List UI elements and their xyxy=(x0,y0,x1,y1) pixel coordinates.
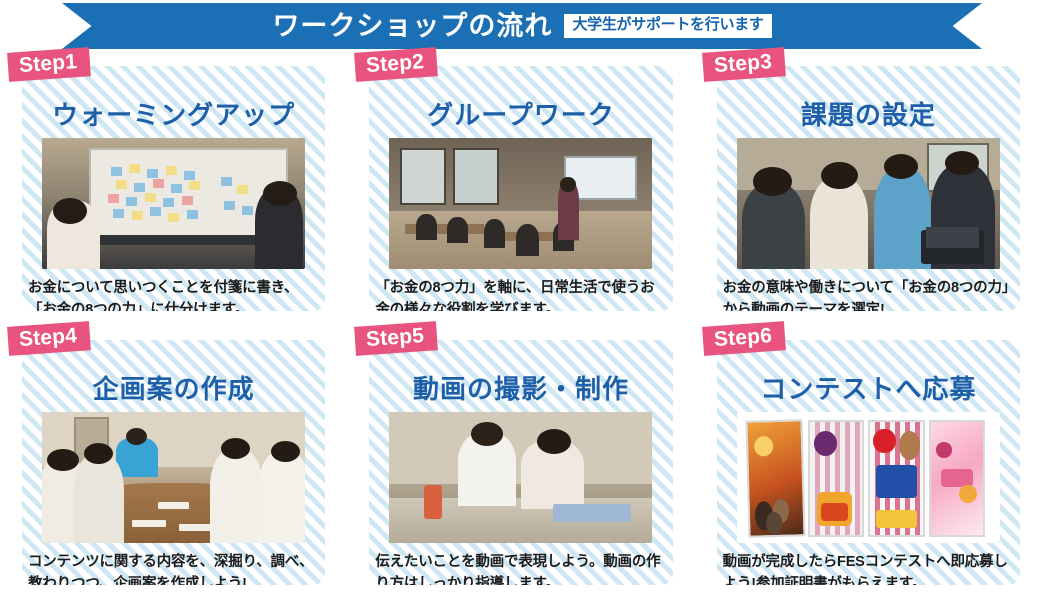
scene-video-production xyxy=(389,412,652,543)
step-cell-6: Step6 コンテストへ応募 xyxy=(695,326,1042,600)
scene-students-laptop xyxy=(737,138,1000,269)
step-photo-6 xyxy=(737,412,1000,543)
step-title-2: グループワーク xyxy=(369,92,672,134)
step-title-6: コンテストへ応募 xyxy=(717,366,1020,408)
step-cell-5: Step5 動画の撮影・制作 伝えたいことを動画で表現しよう。動画の作り方はしっ… xyxy=(347,326,694,600)
step-caption-6: 動画が完成したらFESコンテストへ即応募しよう!参加証明書がもらえます。 xyxy=(723,552,1014,585)
step-photo-5 xyxy=(389,412,652,543)
poster-3 xyxy=(868,420,925,537)
step-tag-5: Step5 xyxy=(354,321,438,356)
step-photo-1 xyxy=(42,138,305,269)
step-cell-2: Step2 グループワーク xyxy=(347,52,694,326)
poster-4 xyxy=(929,420,986,537)
scene-whiteboard-stickynotes xyxy=(42,138,305,269)
step-card-4: 企画案の作成 xyxy=(22,340,325,585)
scene-group-table xyxy=(42,412,305,543)
step-caption-4: コンテンツに関する内容を、深掘り、調べ、教わりつつ、企画案を作成しよう! xyxy=(28,552,319,585)
scene-classroom-presentation xyxy=(389,138,652,269)
page-title: ワークショップの流れ xyxy=(272,13,552,40)
step-card-5: 動画の撮影・制作 伝えたいことを動画で表現しよう。動画の作り方はしっかり指導しま… xyxy=(369,340,672,585)
step-photo-2 xyxy=(389,138,652,269)
step-card-3: 課題の設定 お金の意味や働きについて「 xyxy=(717,66,1020,311)
step-tag-4: Step4 xyxy=(7,321,91,356)
step-tag-3: Step3 xyxy=(702,47,786,82)
step-photo-4 xyxy=(42,412,305,543)
steps-grid: Step1 ウォーミングアップ xyxy=(0,52,1042,600)
step-title-3: 課題の設定 xyxy=(717,92,1020,134)
step-card-1: ウォーミングアップ xyxy=(22,66,325,311)
step-caption-5: 伝えたいことを動画で表現しよう。動画の作り方はしっかり指導します。 xyxy=(375,552,666,585)
poster-2 xyxy=(808,420,865,537)
poster-1 xyxy=(746,419,806,537)
step-caption-1: お金について思いつくことを付箋に書き、「お金の8つの力」に仕分けます。 xyxy=(28,278,319,311)
step-card-6: コンテストへ応募 xyxy=(717,340,1020,585)
step-tag-1: Step1 xyxy=(7,47,91,82)
step-cell-4: Step4 企画案の作成 xyxy=(0,326,347,600)
scene-contest-posters xyxy=(737,412,1000,543)
step-cell-1: Step1 ウォーミングアップ xyxy=(0,52,347,326)
support-badge: 大学生がサポートを行います xyxy=(564,14,771,38)
step-title-1: ウォーミングアップ xyxy=(22,92,325,134)
header-banner: ワークショップの流れ 大学生がサポートを行います xyxy=(0,0,1042,52)
step-title-4: 企画案の作成 xyxy=(22,366,325,408)
step-caption-2: 「お金の8つ力」を軸に、日常生活で使うお金の様々な役割を学びます。 xyxy=(375,278,666,311)
step-caption-3: お金の意味や働きについて「お金の8つの力」から動画のテーマを選定! xyxy=(723,278,1014,311)
step-photo-3 xyxy=(737,138,1000,269)
step-title-5: 動画の撮影・制作 xyxy=(369,366,672,408)
step-card-2: グループワーク xyxy=(369,66,672,311)
step-tag-6: Step6 xyxy=(702,321,786,356)
step-tag-2: Step2 xyxy=(354,47,438,82)
banner-content: ワークショップの流れ 大学生がサポートを行います xyxy=(62,3,982,49)
step-cell-3: Step3 課題の設定 xyxy=(695,52,1042,326)
